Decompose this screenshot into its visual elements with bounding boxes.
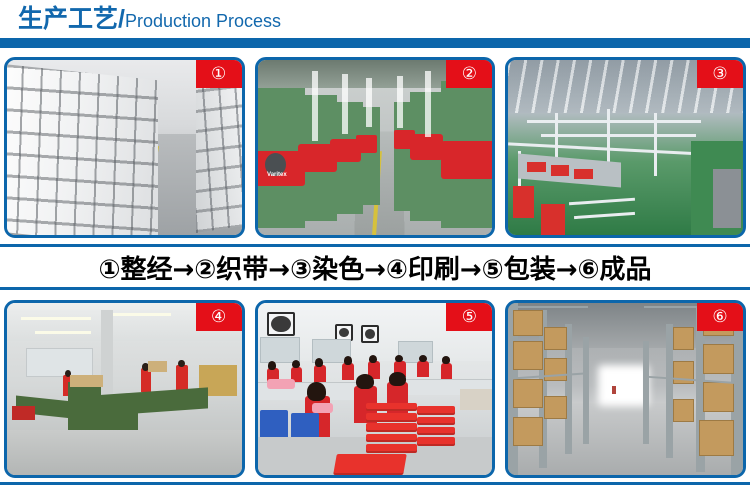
photo-card-2[interactable]: Varitex ② [255,57,496,238]
photo-badge-5: ⑤ [446,303,492,331]
process-flow-text: ①整经→②织带→③染色→④印刷→⑤包装→⑥成品 [98,249,651,286]
photo-card-1[interactable]: ① [4,57,245,238]
photo-card-6[interactable]: ⑥ [505,300,746,478]
process-flow-strip: ①整经→②织带→③染色→④印刷→⑤包装→⑥成品 [0,247,750,287]
page-title: 生产工艺/Production Process [18,3,281,39]
footer-divider [0,482,750,485]
photo-card-3[interactable]: ③ [505,57,746,238]
photo-card-4[interactable]: ④ [4,300,245,478]
page-title-separator: / [118,5,125,33]
photo-badge-3: ③ [697,60,743,88]
photo-row-bottom: ④ [0,300,750,478]
page-header: 生产工艺/Production Process [0,0,750,38]
photo-row-top: ① Varitex [0,57,750,238]
photo-badge-4: ④ [196,303,242,331]
photo-badge-6: ⑥ [697,303,743,331]
header-divider-bar [0,38,750,48]
photo-badge-2: ② [446,60,492,88]
flow-divider-bottom [0,287,750,290]
photo-card-5[interactable]: ⑤ [255,300,496,478]
photo-badge-1: ① [196,60,242,88]
page-title-english: Production Process [125,11,281,31]
page-title-chinese: 生产工艺 [18,4,118,33]
